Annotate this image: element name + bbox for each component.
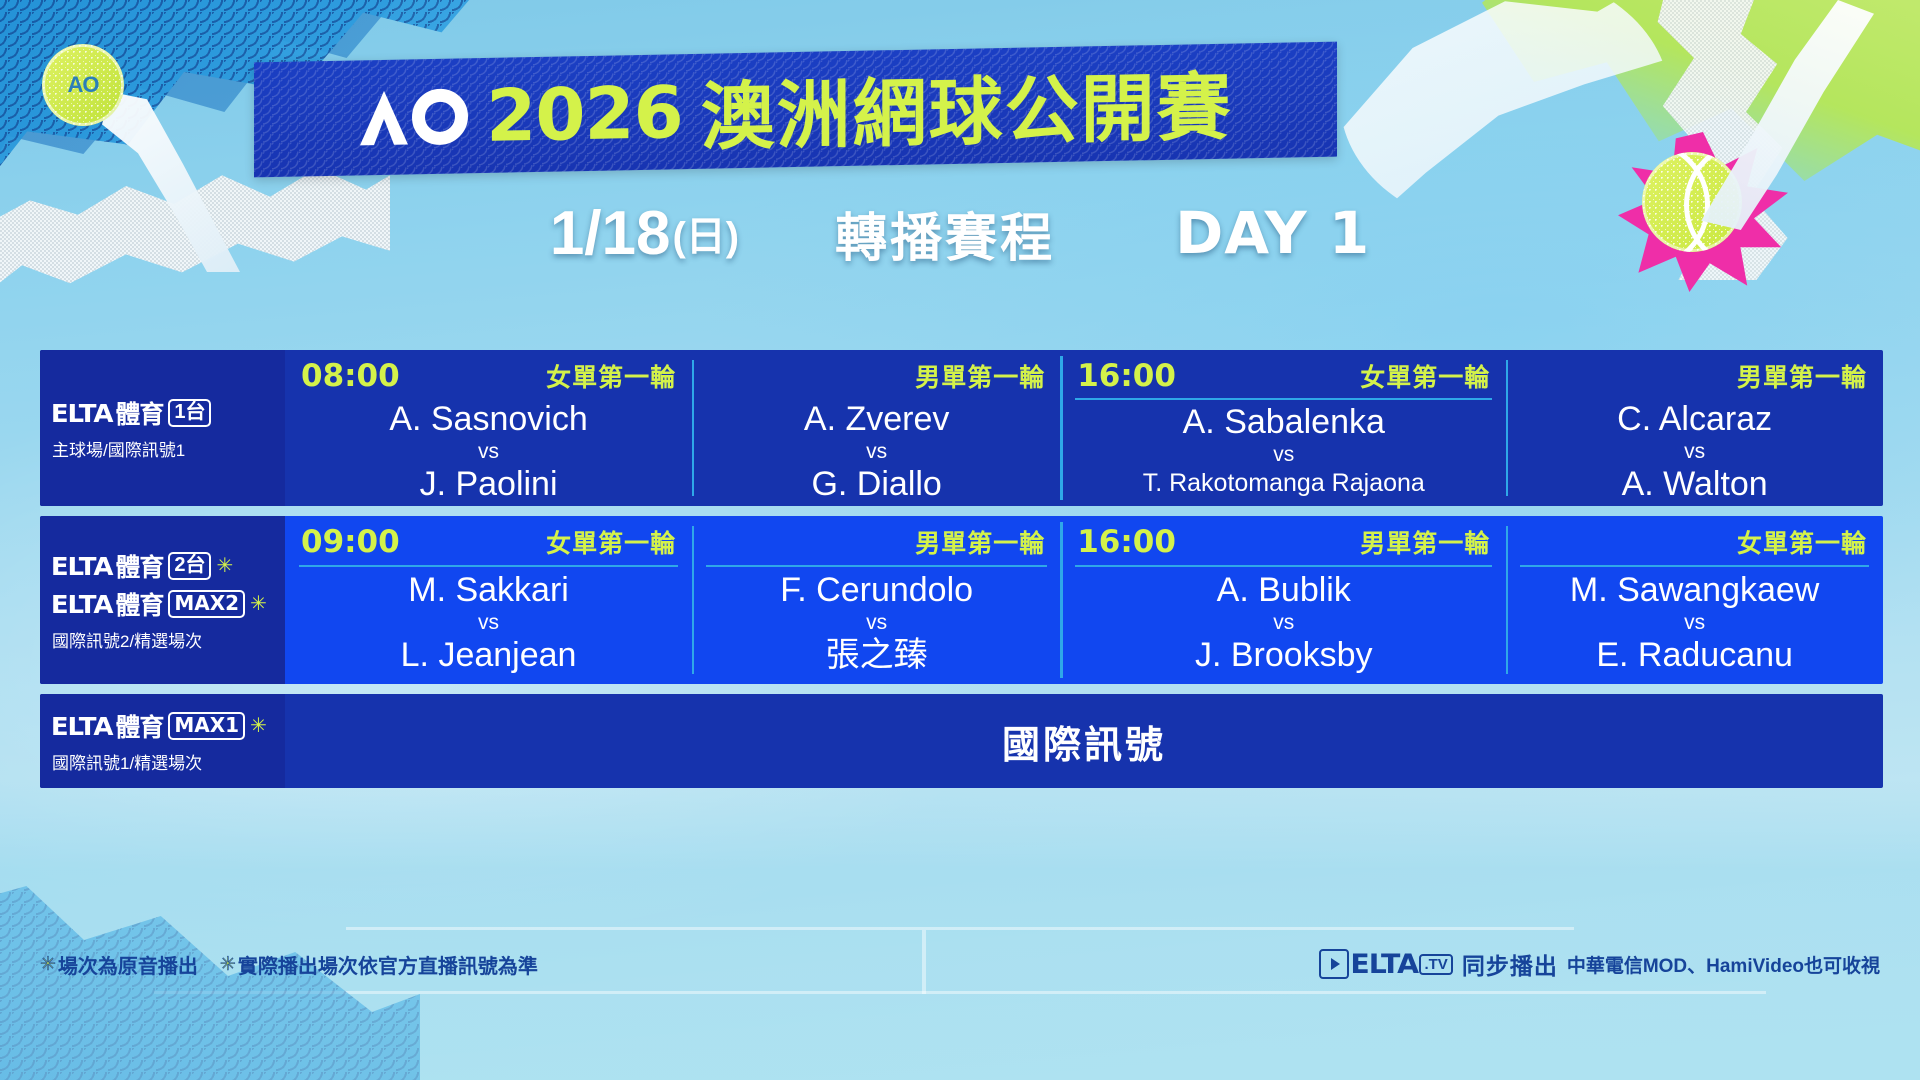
channel-subtitle: 國際訊號1/精選場次 [52,749,273,774]
channel-badge: MAX1 [168,712,245,739]
player-two: G. Diallo [811,466,941,502]
schedule-row: ELTA 體育 2台 ✳ ELTA 體育 MAX2 ✳ 國際訊號2/精選場次 0… [40,516,1883,684]
vs-label: vs [866,609,887,636]
match-cells: 09:00 女單第一輪 M. Sakkari vs L. Jeanjean 男單… [285,516,1883,684]
tennis-ball-logo-icon: AO [42,44,124,126]
footer-platforms: 中華電信MOD、HamiVideo也可收視 [1567,951,1880,978]
match-header: 女單第一輪 [1516,524,1873,564]
elta-chinese: 體育 [115,395,163,431]
match-round: 男單第一輪 [915,358,1045,394]
match-cell[interactable]: 男單第一輪 A. Zverev vs G. Diallo [692,350,1061,506]
match-header: 男單第一輪 [1516,358,1873,396]
title-year: 2026 [486,70,682,158]
vs-label: vs [1684,438,1705,465]
channel-logo: ELTA 體育 1台 [52,395,273,431]
elta-chinese: 體育 [115,586,163,622]
footer-note-1-text: 場次為原音播出 [58,950,198,979]
divider [1075,565,1492,567]
match-players: F. Cerundolo vs 張之臻 [702,571,1051,674]
match-time: 16:00 [1077,524,1176,560]
footer-note-1: ✳ 場次為原音播出 [40,950,198,979]
footer-sync-label: 同步播出 [1462,947,1558,981]
player-two: 張之臻 [826,637,928,673]
vs-label: vs [478,609,499,636]
elta-tv-logo: ELTA .TV [1319,949,1453,980]
dateline: 1/18 (日) 轉播賽程 DAY 1 [0,192,1920,274]
match-round: 女單第一輪 [1737,524,1867,560]
asterisk-icon: ✳ [250,716,267,736]
match-header: 男單第一輪 [702,524,1051,564]
divider [1520,565,1869,567]
match-players: A. Zverev vs G. Diallo [702,401,1051,502]
player-one: A. Bublik [1217,572,1351,608]
player-two: J. Brooksby [1195,637,1373,673]
match-header: 16:00 男單第一輪 [1071,524,1496,564]
match-time: 08:00 [301,358,400,394]
channel-subtitle: 主球場/國際訊號1 [52,436,273,461]
match-cell[interactable]: 男單第一輪 C. Alcaraz vs A. Walton [1506,350,1883,506]
player-one: C. Alcaraz [1617,401,1772,437]
player-one: A. Sabalenka [1183,404,1385,440]
schedule-row: ELTA 體育 1台 主球場/國際訊號1 08:00 女單第一輪 A. Sasn… [40,350,1883,506]
player-one: M. Sakkari [408,572,569,608]
match-round: 男單第一輪 [1360,524,1490,560]
match-players: A. Sabalenka vs T. Rakotomanga Rajaona [1071,404,1496,496]
divider [1075,398,1492,400]
broadcast-schedule-label: 轉播賽程 [835,196,1055,271]
match-header: 男單第一輪 [702,358,1051,396]
player-two: T. Rakotomanga Rajaona [1143,470,1425,497]
channel-subtitle: 國際訊號2/精選場次 [52,627,273,652]
match-round: 女單第一輪 [546,358,676,394]
footer: ✳ 場次為原音播出 ✳ 實際播出場次依官方直播訊號為準 ELTA .TV 同步播… [40,940,1880,988]
match-cell[interactable]: 08:00 女單第一輪 A. Sasnovich vs J. Paolini [285,350,692,506]
date-weekday: (日) [672,204,739,262]
asterisk-icon: ✳ [40,953,56,976]
elta-wordmark: ELTA [51,552,113,581]
channel-badge: MAX2 [168,590,245,617]
channel-logo: ELTA 體育 2台 ✳ [52,548,273,584]
play-icon [1319,949,1349,979]
day-number-label: DAY 1 [1175,199,1370,267]
divider [706,565,1047,567]
match-round: 女單第一輪 [546,524,676,560]
elta-wordmark: ELTA [1350,949,1418,980]
schedule-row: ELTA 體育 MAX1 ✳ 國際訊號1/精選場次 國際訊號 [40,694,1883,788]
elta-wordmark: ELTA [51,712,113,741]
player-one: F. Cerundolo [780,572,973,608]
match-cell[interactable]: 男單第一輪 F. Cerundolo vs 張之臻 [692,516,1061,684]
divider [299,565,678,567]
court-line [346,927,1575,930]
vs-label: vs [1273,609,1294,636]
elta-chinese: 體育 [115,548,163,584]
player-two: A. Walton [1622,466,1768,502]
match-time: 09:00 [301,524,400,560]
match-round: 男單第一輪 [1737,358,1867,394]
ao-a-icon [358,88,410,147]
match-header: 09:00 女單第一輪 [295,524,682,564]
channel-badge: 2台 [168,552,211,579]
title-chinese: 澳洲網球公開賽 [701,48,1233,165]
channel-cell: ELTA 體育 1台 主球場/國際訊號1 [40,350,285,506]
footer-note-2-text: 實際播出場次依官方直播訊號為準 [238,950,538,979]
vs-label: vs [1684,609,1705,636]
channel-badge: 1台 [168,399,211,426]
player-two: E. Raducanu [1596,637,1793,673]
channel-logo: ELTA 體育 MAX1 ✳ [52,708,273,744]
ao-ball-mark: AO [68,72,99,98]
schedule-table: ELTA 體育 1台 主球場/國際訊號1 08:00 女單第一輪 A. Sasn… [40,350,1883,798]
channel-logo: ELTA 體育 MAX2 ✳ [52,586,273,622]
asterisk-icon: ✳ [216,556,233,576]
date-value: 1/18 [550,198,671,269]
match-players: M. Sakkari vs L. Jeanjean [295,571,682,674]
vs-label: vs [1273,441,1294,468]
elta-chinese: 體育 [115,708,163,744]
ao-logo [358,87,468,147]
vs-label: vs [866,438,887,465]
title-banner: 2026 澳洲網球公開賽 [254,42,1337,178]
elta-tv-suffix: .TV [1419,954,1452,975]
match-round: 男單第一輪 [915,524,1045,560]
match-cell[interactable]: 16:00 女單第一輪 A. Sabalenka vs T. Rakotoman… [1061,350,1506,506]
match-cells: 08:00 女單第一輪 A. Sasnovich vs J. Paolini 男… [285,350,1883,506]
match-players: C. Alcaraz vs A. Walton [1516,401,1873,502]
player-two: L. Jeanjean [401,637,577,673]
court-line [154,991,1767,994]
ao-o-icon [412,88,468,145]
match-cell[interactable]: 09:00 女單第一輪 M. Sakkari vs L. Jeanjean [285,516,692,684]
match-players: A. Bublik vs J. Brooksby [1071,571,1496,674]
elta-wordmark: ELTA [51,590,113,619]
player-one: A. Sasnovich [389,401,587,437]
player-one: M. Sawangkaew [1570,572,1819,608]
match-header: 08:00 女單第一輪 [295,358,682,396]
match-players: M. Sawangkaew vs E. Raducanu [1516,571,1873,674]
match-players: A. Sasnovich vs J. Paolini [295,401,682,502]
elta-wordmark: ELTA [51,399,113,428]
row-banner-label: 國際訊號 [1002,714,1166,769]
row-banner: 國際訊號 [285,694,1883,788]
asterisk-icon: ✳ [250,594,267,614]
footer-brand-block: ELTA .TV 同步播出 中華電信MOD、HamiVideo也可收視 [1319,947,1880,981]
match-cell[interactable]: 女單第一輪 M. Sawangkaew vs E. Raducanu [1506,516,1883,684]
player-one: A. Zverev [804,401,949,437]
match-header: 16:00 女單第一輪 [1071,358,1496,397]
footer-notes: ✳ 場次為原音播出 ✳ 實際播出場次依官方直播訊號為準 [40,950,538,979]
vs-label: vs [478,438,499,465]
player-two: J. Paolini [420,466,558,502]
footer-note-2: ✳ 實際播出場次依官方直播訊號為準 [220,950,538,979]
asterisk-icon: ✳ [220,953,236,976]
channel-cell: ELTA 體育 MAX1 ✳ 國際訊號1/精選場次 [40,694,285,788]
channel-cell: ELTA 體育 2台 ✳ ELTA 體育 MAX2 ✳ 國際訊號2/精選場次 [40,516,285,684]
match-round: 女單第一輪 [1360,358,1490,394]
match-time: 16:00 [1077,358,1176,394]
match-cell[interactable]: 16:00 男單第一輪 A. Bublik vs J. Brooksby [1061,516,1506,684]
